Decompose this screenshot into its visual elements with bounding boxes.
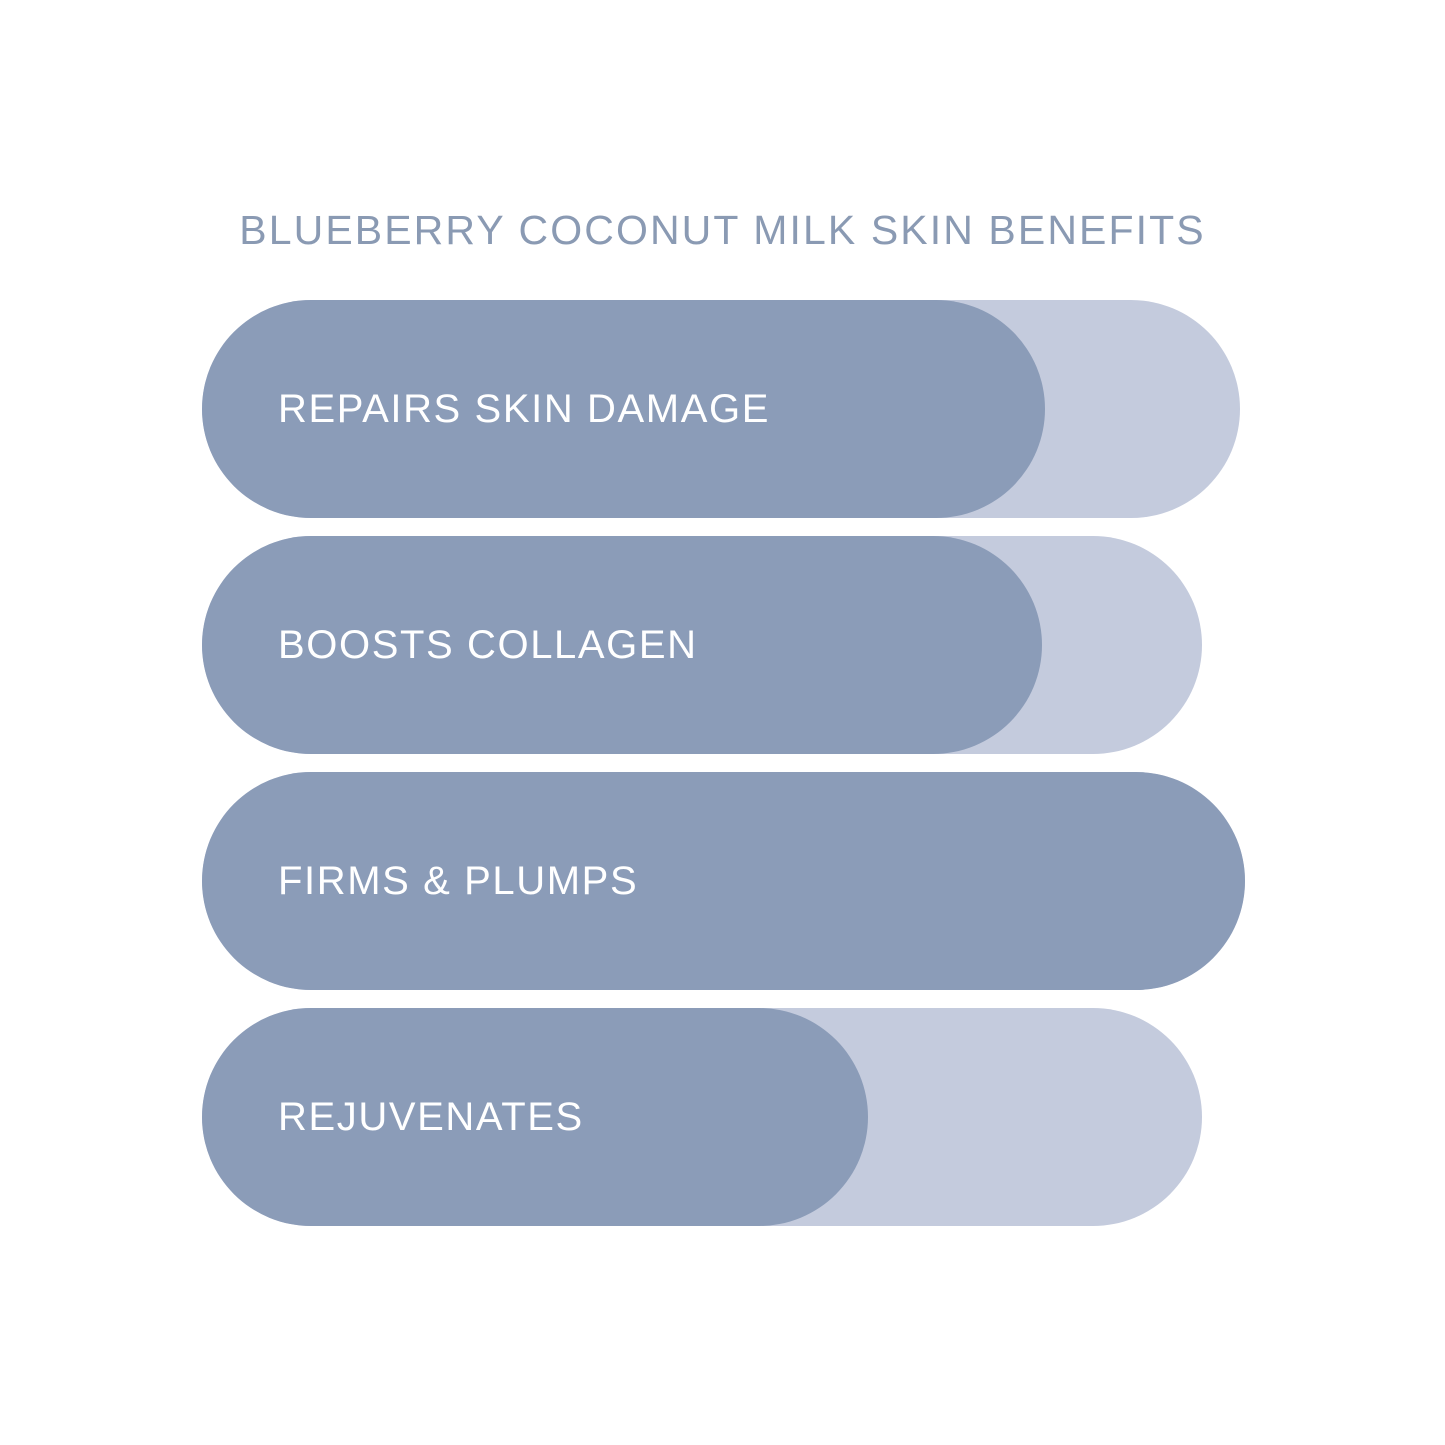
benefit-bar-fill	[202, 1008, 868, 1226]
benefit-bar-fill	[202, 772, 1245, 990]
page-title: BLUEBERRY COCONUT MILK SKIN BENEFITS	[0, 202, 1445, 258]
infographic-canvas: BLUEBERRY COCONUT MILK SKIN BENEFITS REP…	[0, 0, 1445, 1445]
benefit-bar-row[interactable]: FIRMS & PLUMPS	[202, 772, 1245, 990]
benefits-bar-list: REPAIRS SKIN DAMAGE BOOSTS COLLAGEN FIRM…	[202, 300, 1252, 1225]
benefit-bar-fill	[202, 300, 1045, 518]
benefit-bar-row[interactable]: REPAIRS SKIN DAMAGE	[202, 300, 1240, 518]
benefit-bar-row[interactable]: REJUVENATES	[202, 1008, 1202, 1226]
benefit-bar-row[interactable]: BOOSTS COLLAGEN	[202, 536, 1202, 754]
benefit-bar-fill	[202, 536, 1042, 754]
